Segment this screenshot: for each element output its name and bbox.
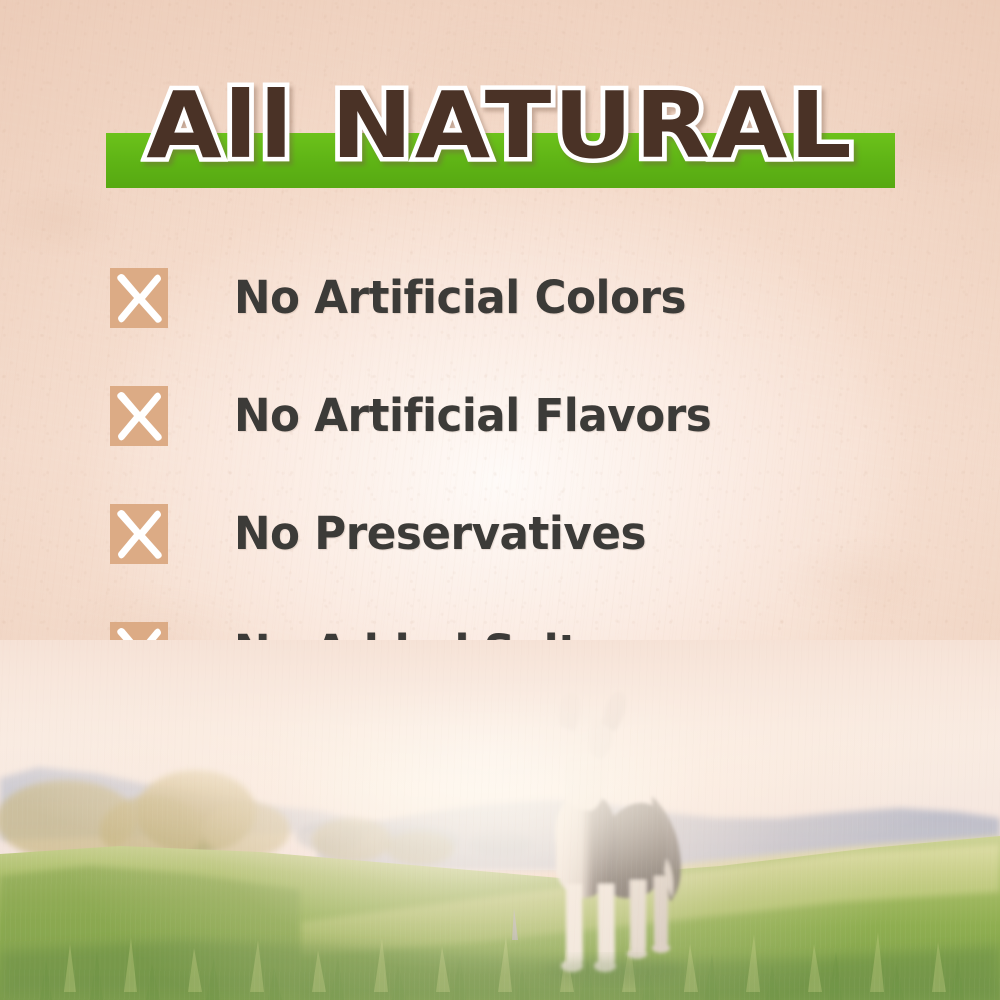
checklist: No Artificial Colors No Artificial Flavo… [110,268,930,682]
list-item-label: No Artificial Flavors [234,386,711,446]
poster-canvas: All NATURAL No Artificial Colors No Arti… [0,0,1000,1000]
meadow-scene [0,640,1000,1000]
page-title: All NATURAL [0,76,1000,176]
list-item-label: No Preservatives [234,504,646,564]
list-item: No Artificial Colors [110,268,930,328]
landscape-photo [0,640,1000,1000]
x-mark-icon [110,386,168,446]
headline-block: All NATURAL [0,76,1000,196]
list-item: No Preservatives [110,504,930,564]
list-item: No Artificial Flavors [110,386,930,446]
sun-glow [0,640,1000,1000]
list-item-label: No Artificial Colors [234,268,686,328]
x-mark-icon [110,268,168,328]
x-mark-icon [110,504,168,564]
